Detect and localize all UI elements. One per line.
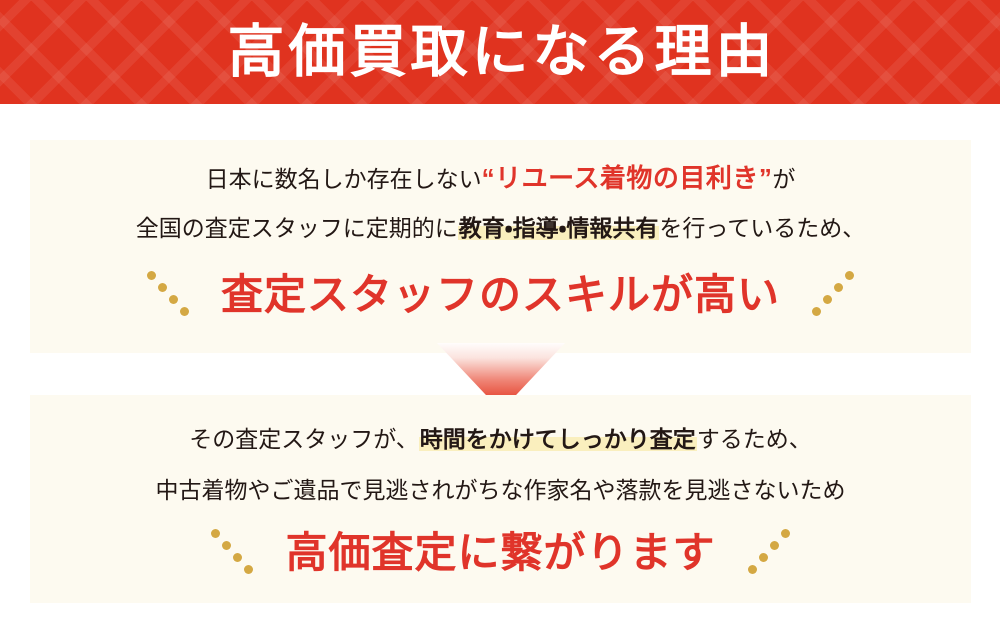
emphasis-red-text: “リユース着物の目利き” (482, 165, 773, 191)
gold-dots-right-decoration (810, 267, 856, 323)
text-segment: 全国の査定スタッフに定期的に (136, 217, 458, 240)
panel-two-headline: 高価査定に繋がります (30, 525, 971, 581)
panel-one-line-one: 日本に数名しか存在しない“リユース着物の目利き”が (30, 165, 971, 191)
headline-text: 査定スタッフのスキルが高い (221, 274, 780, 316)
gold-dots-right-decoration (746, 525, 792, 581)
text-segment: するため、 (697, 428, 812, 451)
text-segment: 中古着物やご遺品で見逃されがちな作家名や落款を見逃さないため (156, 479, 846, 502)
gold-dots-left-decoration (145, 267, 191, 323)
emphasis-highlighted-text: 教育・指導・情報共有 (458, 217, 660, 240)
text-segment: その査定スタッフが、 (189, 428, 419, 451)
header-banner: 高価買取になる理由 (0, 0, 1000, 104)
text-segment: が (772, 168, 795, 191)
panel-one-line-two: 全国の査定スタッフに定期的に教育・指導・情報共有を行っているため、 (30, 217, 971, 240)
emphasis-highlighted-text: 時間をかけてしっかり査定 (419, 428, 697, 451)
page-title: 高価買取になる理由 (0, 0, 1000, 104)
text-segment: 日本に数名しか存在しない (206, 168, 482, 191)
panel-two-line-two: 中古着物やご遺品で見逃されがちな作家名や落款を見逃さないため (30, 479, 971, 502)
text-segment: を行っているため、 (659, 217, 865, 240)
panel-two-line-one: その査定スタッフが、時間をかけてしっかり査定するため、 (30, 428, 971, 451)
panel-one-headline: 査定スタッフのスキルが高い (30, 267, 971, 323)
gold-dots-left-decoration (209, 525, 255, 581)
headline-text: 高価査定に繋がります (285, 532, 715, 574)
